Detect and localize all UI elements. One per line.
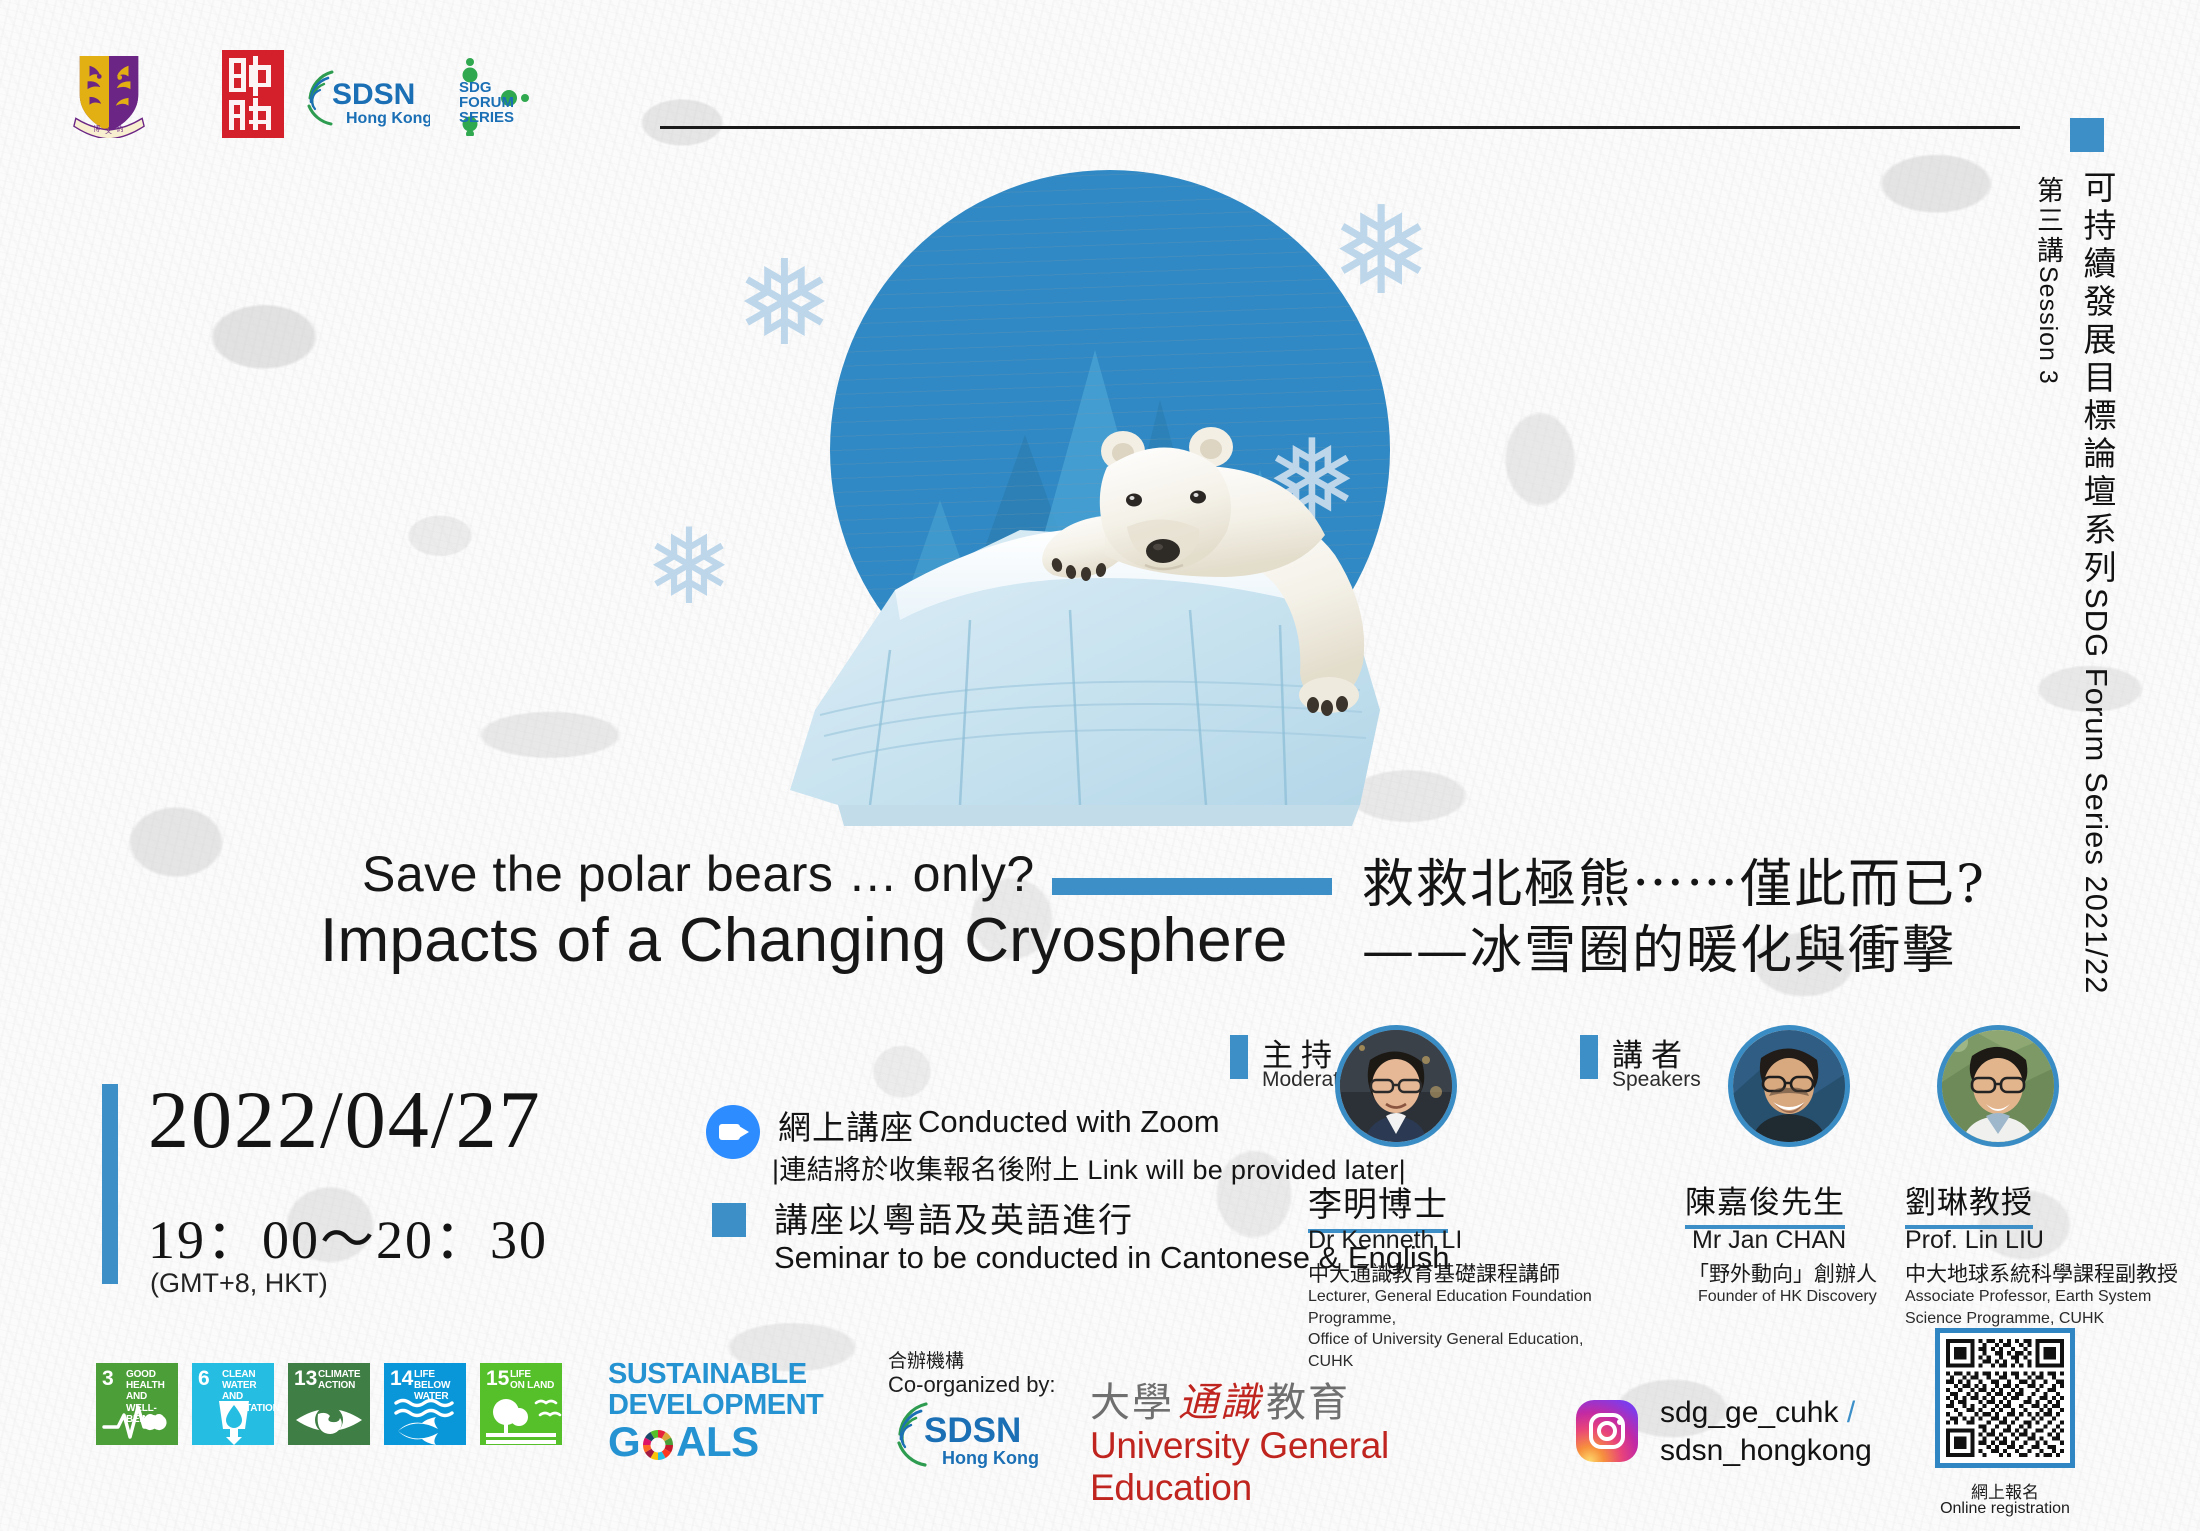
speakers-block: 講者 Speakers 陳嘉俊先生 Mr Jan CHAN 「野外動向」創辦人 … <box>1580 1030 2120 1330</box>
sdg-goal-13: 13 CLIMATEACTION <box>288 1363 370 1445</box>
title-english-line-1: Save the polar bears … only? <box>362 845 1035 903</box>
sdg-goal-number: 13 <box>294 1368 317 1389</box>
speaker-name-en: Mr Jan CHAN <box>1692 1226 1846 1255</box>
moderator-block: 主持 Moderator 李明博士 Dr Kenneth LI 中大通識教育基礎… <box>1230 1030 1530 1330</box>
svg-text:SERIES: SERIES <box>459 109 514 126</box>
session-label-en: Session 3 <box>2034 266 2062 385</box>
speaker-name-en: Prof. Lin LIU <box>1905 1226 2044 1255</box>
sdg-goal-number: 14 <box>390 1368 413 1389</box>
instagram-icon[interactable] <box>1576 1400 1638 1462</box>
sdg-goal-number: 6 <box>198 1368 210 1389</box>
title-chinese-line-2: ——冰雪圈的暖化與衝擊 <box>1362 908 1956 983</box>
platform-label-zh: 網上講座 <box>778 1101 914 1149</box>
sdg-forum-series-logo: SDG FORUM SERIES <box>445 56 545 136</box>
moderator-avatar <box>1335 1025 1457 1147</box>
instagram-handle-1[interactable]: sdg_ge_cuhk / <box>1660 1396 1855 1430</box>
sdg-goal-icons: 3 GOOD HEALTHAND WELL-BEING 6 CLEAN WATE… <box>96 1363 556 1465</box>
sustainable-development-goals-logo: SUSTAINABLE DEVELOPMENT G ALS <box>608 1358 798 1458</box>
moderator-accent-square <box>1230 1035 1248 1079</box>
snowflake-icon: ❅ <box>1330 190 1432 312</box>
sdg-goal-14: 14 LIFEBELOW WATER <box>384 1363 466 1445</box>
sdg-logo-line-1: SUSTAINABLE <box>608 1358 807 1391</box>
svg-text:Hong Kong: Hong Kong <box>942 1448 1038 1468</box>
svg-text:博: 博 <box>93 124 100 133</box>
uge-en: University General Education <box>1090 1425 1490 1509</box>
session-label-zh: 第三講 <box>2033 176 2063 266</box>
hero-illustration: ❅ ❅ ❅ ❅ <box>700 160 1460 840</box>
polar-bear-illustration <box>995 405 1395 735</box>
co-organized-label-zh: 合辦機構 <box>888 1346 964 1373</box>
moderator-name-zh: 李明博士 <box>1308 1177 1448 1233</box>
series-title-zh: 可持續發展目標論壇系列 <box>2078 170 2114 588</box>
qr-code-image <box>1946 1339 2064 1457</box>
svg-text:文: 文 <box>105 126 112 135</box>
heartbeat-icon <box>96 1395 178 1445</box>
svg-text:SDSN: SDSN <box>332 78 415 111</box>
svg-text:約: 約 <box>117 124 124 133</box>
sdg-logo-line-3: G ALS <box>608 1418 759 1466</box>
speaker-name-zh: 陳嘉俊先生 <box>1685 1177 1845 1229</box>
event-timezone: (GMT+8, HKT) <box>150 1268 328 1299</box>
moderator-title-en-line-1: Lecturer, General Education Foundation P… <box>1308 1286 1608 1329</box>
sdg-goal-number: 15 <box>486 1368 509 1389</box>
language-accent-square <box>712 1203 746 1237</box>
event-date: 2022/04/27 <box>148 1073 542 1167</box>
eye-earth-icon <box>288 1395 370 1445</box>
poster-canvas: 博文約 <box>0 0 2200 1531</box>
sdg-goal-6: 6 CLEAN WATERAND SANITATION <box>192 1363 274 1445</box>
speaker-title-en-line-1: Associate Professor, Earth System <box>1905 1286 2165 1308</box>
speaker-avatar <box>1937 1025 2059 1147</box>
date-accent-bar <box>102 1084 118 1284</box>
speaker-title-en: Associate Professor, Earth System Scienc… <box>1905 1286 2165 1329</box>
sdg-goal-number: 3 <box>102 1368 114 1389</box>
co-organized-label-en: Co-organized by: <box>888 1372 1056 1398</box>
registration-caption-en: Online registration <box>1935 1500 2075 1518</box>
speakers-accent-square <box>1580 1035 1598 1079</box>
handle-separator: / <box>1847 1396 1855 1429</box>
title-divider-rule <box>1052 878 1332 895</box>
cuhk-seal-logo <box>220 48 286 140</box>
sdg-color-wheel-icon <box>640 1427 676 1463</box>
event-time: 19：00〜20：30 <box>148 1195 548 1274</box>
session-label-vertical: 第三講Session 3 <box>2029 176 2070 385</box>
fish-waves-icon <box>384 1395 466 1445</box>
registration-qr-code[interactable] <box>1935 1328 2075 1468</box>
vertical-series-banner: 可持續發展目標論壇系列SDG Forum Series 2021/22 第三講S… <box>2032 118 2182 1118</box>
speaker-title-en-line-2: Science Programme, CUHK <box>1905 1308 2165 1330</box>
title-chinese-line-1: 救救北極熊⋯⋯僅此而已? <box>1362 842 1986 917</box>
snowflake-icon: ❅ <box>735 245 834 363</box>
cuhk-crest-logo: 博文約 <box>70 50 148 138</box>
moderator-name-en: Dr Kenneth LI <box>1308 1226 1462 1255</box>
speaker-title-en: Founder of HK Discovery <box>1698 1286 1928 1308</box>
tree-birds-icon <box>480 1395 562 1445</box>
series-title-vertical: 可持續發展目標論壇系列SDG Forum Series 2021/22 <box>2072 170 2124 995</box>
language-label-zh: 講座以粵語及英語進行 <box>774 1193 1134 1242</box>
banner-accent-square <box>2070 118 2104 152</box>
instagram-handle-2[interactable]: sdsn_hongkong <box>1660 1434 1872 1468</box>
university-general-education-logo: 大學通識教育 University General Education <box>1090 1383 1490 1475</box>
sdg-goal-label: LIFEON LAND <box>510 1369 554 1391</box>
moderator-title-en-line-2: Office of University General Education, … <box>1308 1329 1608 1372</box>
speaker-title-en-line-1: Founder of HK Discovery <box>1698 1286 1928 1308</box>
svg-text:Hong Kong: Hong Kong <box>346 110 430 127</box>
moderator-title-en: Lecturer, General Education Foundation P… <box>1308 1286 1608 1372</box>
uge-zh-red: 通識 <box>1174 1380 1266 1426</box>
svg-text:SDSN: SDSN <box>924 1411 1021 1450</box>
uge-zh-grey-1: 大學 <box>1090 1380 1174 1426</box>
moderator-title-zh: 中大通識教育基礎課程講師 <box>1308 1258 1560 1288</box>
speaker-avatar <box>1728 1025 1850 1147</box>
header-divider-rule <box>660 126 2020 129</box>
sdg-goal-3: 3 GOOD HEALTHAND WELL-BEING <box>96 1363 178 1445</box>
speaker-title-zh: 「野外動向」創辦人 <box>1688 1258 1877 1288</box>
speaker-title-zh: 中大地球系統科學課程副教授 <box>1905 1258 2178 1288</box>
zoom-video-icon <box>706 1105 760 1159</box>
uge-zh-grey-2: 教育 <box>1266 1380 1350 1426</box>
sdsn-hong-kong-logo: SDSN Hong Kong <box>888 1398 1038 1470</box>
sdg-goal-label: CLIMATEACTION <box>318 1369 360 1391</box>
platform-label-en: Conducted with Zoom <box>918 1104 1220 1140</box>
title-english-line-2: Impacts of a Changing Cryosphere <box>320 905 1288 976</box>
speakers-role-en: Speakers <box>1612 1068 1701 1092</box>
sdsn-hong-kong-logo: SDSN Hong Kong <box>300 66 430 128</box>
speaker-name-zh: 劉琳教授 <box>1905 1177 2033 1229</box>
series-title-en: SDG Forum Series 2021/22 <box>2079 588 2114 995</box>
header-logo-row: 博文約 <box>70 48 490 143</box>
water-glass-icon <box>192 1395 274 1445</box>
sdg-goal-15: 15 LIFEON LAND <box>480 1363 562 1445</box>
